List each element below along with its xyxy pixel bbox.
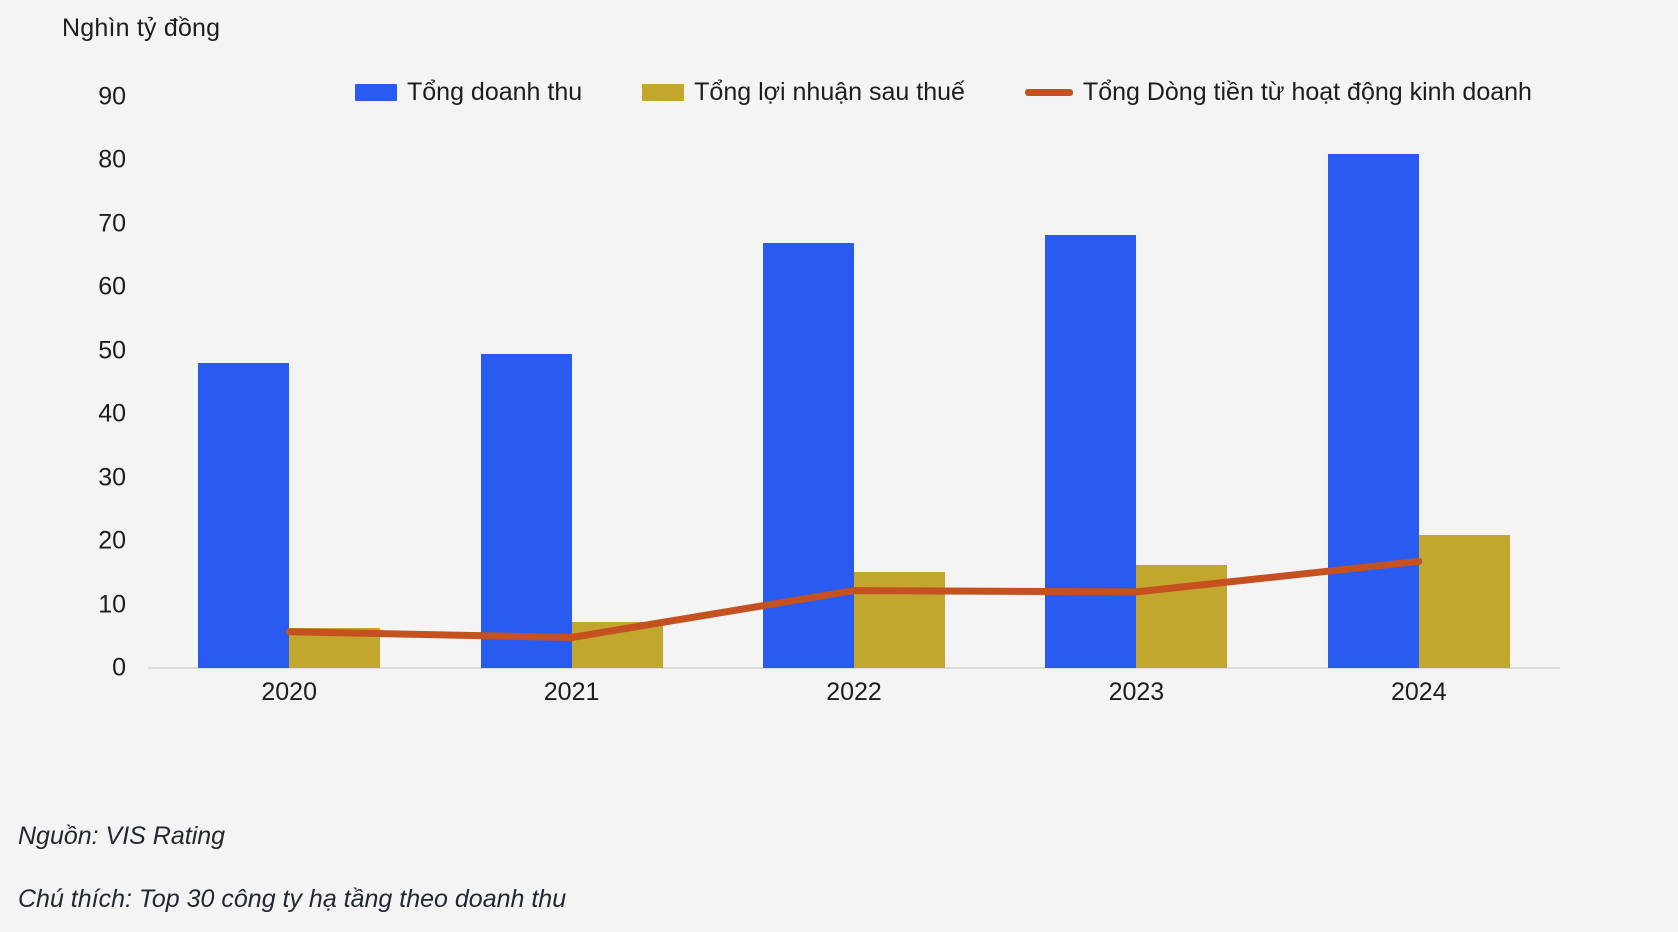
explanatory-note: Chú thích: Top 30 công ty hạ tầng theo d… xyxy=(18,885,566,914)
chart-container: Nghìn tỷ đồng Tổng doanh thuTổng lợi nhu… xyxy=(0,0,1678,932)
y-axis-tick: 80 xyxy=(78,146,126,175)
y-axis-tick: 60 xyxy=(78,273,126,302)
y-axis-tick: 40 xyxy=(78,400,126,429)
legend-line-swatch xyxy=(1025,89,1073,96)
x-axis-tick: 2023 xyxy=(1109,678,1165,707)
x-axis-tick: 2024 xyxy=(1391,678,1447,707)
cashflow-line-series xyxy=(148,97,1560,668)
x-axis-tick: 2022 xyxy=(826,678,882,707)
y-axis-unit-label: Nghìn tỷ đồng xyxy=(62,14,220,43)
x-axis-tick-labels: 20202021202220232024 xyxy=(148,678,1560,718)
y-axis-tick: 90 xyxy=(78,83,126,112)
y-axis-tick: 20 xyxy=(78,527,126,556)
x-axis-tick: 2020 xyxy=(261,678,317,707)
source-note: Nguồn: VIS Rating xyxy=(18,822,566,851)
y-axis-tick: 30 xyxy=(78,463,126,492)
y-axis-tick: 70 xyxy=(78,209,126,238)
chart-footnotes: Nguồn: VIS Rating Chú thích: Top 30 công… xyxy=(18,822,566,914)
y-axis-tick: 50 xyxy=(78,336,126,365)
x-axis-tick: 2021 xyxy=(544,678,600,707)
plot-area xyxy=(148,97,1560,668)
y-axis-tick: 10 xyxy=(78,590,126,619)
cashflow-line-path xyxy=(289,561,1419,637)
y-axis-tick: 0 xyxy=(78,654,126,683)
